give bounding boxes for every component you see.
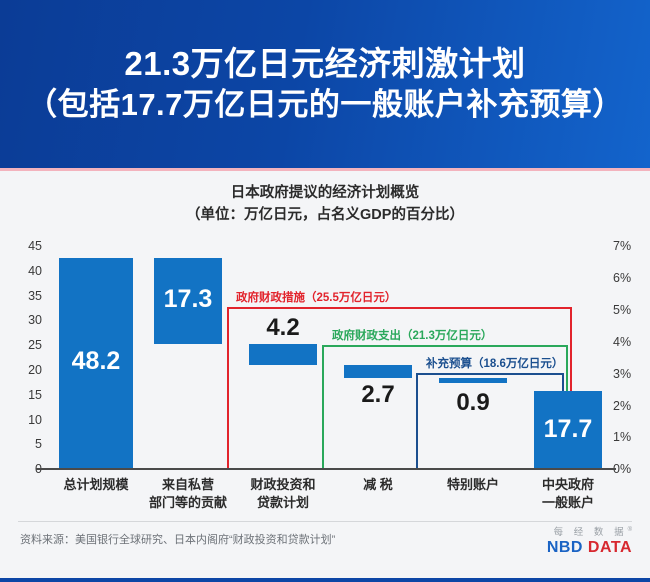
x-label-tax-cut-line1: 减 税 [333,476,423,494]
chart-title-line1: 日本政府提议的经济计划概览 [0,182,650,204]
annotation-label-fiscal-measures: 政府财政措施（25.5万亿日元） [233,293,399,305]
x-label-fiscal-investment-loan-line1: 财政投资和 [238,476,328,494]
logo-chinese-text: 每 经 数 据 [554,527,628,538]
bar-value-special-account: 0.9 [435,391,511,415]
x-label-central-gov-general-account-line1: 中央政府 [523,476,613,494]
x-label-special-account: 特别账户 [428,476,518,494]
source-note: 资料来源：美国银行全球研究、日本内阁府“财政投资和贷款计划” [20,531,335,547]
footer-divider [18,521,632,522]
x-label-total-plan-size: 总计划规模 [51,476,141,494]
y-tick-left-10: 10 [28,414,42,427]
y-axis-right: 7% 6% 5% 4% 3% 2% 1% 0% [613,245,647,469]
y-tick-right-2: 2% [613,400,631,413]
x-label-total-plan-size-line1: 总计划规模 [51,476,141,494]
x-label-special-account-line1: 特别账户 [428,476,518,494]
x-label-private-sector-contribution-line1: 来自私营 [143,476,233,494]
y-tick-left-25: 25 [28,339,42,352]
bar-value-central-gov-general-account: 17.7 [534,417,602,442]
y-tick-right-5: 5% [613,304,631,317]
banner-title-line2: （包括17.7万亿日元的一般账户补充预算） [26,87,624,124]
y-tick-left-20: 20 [28,364,42,377]
x-label-central-gov-general-account: 中央政府 一般账户 [523,476,613,511]
logo-english-name: NBD DATA [547,539,632,557]
header-divider [0,168,650,171]
y-tick-right-3: 3% [613,368,631,381]
annotation-label-supplementary-budget: 补充预算（18.6万亿日元） [423,359,566,371]
x-label-fiscal-investment-loan: 财政投资和 贷款计划 [238,476,328,511]
x-label-fiscal-investment-loan-line2: 贷款计划 [238,494,328,512]
y-tick-left-40: 40 [28,265,42,278]
banner-title-line1: 21.3万亿日元经济刺激计划 [124,45,525,84]
chart-title-line2: （单位：万亿日元，占名义GDP的百分比） [0,204,650,226]
chart-title: 日本政府提议的经济计划概览 （单位：万亿日元，占名义GDP的百分比） [0,182,650,227]
bar-tax-cut [344,365,412,378]
y-tick-left-45: 45 [28,240,42,253]
y-tick-left-15: 15 [28,389,42,402]
bar-value-tax-cut: 2.7 [340,383,416,407]
x-label-central-gov-general-account-line2: 一般账户 [523,494,613,512]
x-label-tax-cut: 减 税 [333,476,423,494]
bar-special-account [439,378,507,383]
logo-data-text: DATA [583,539,632,556]
x-axis-baseline [36,468,616,470]
x-label-private-sector-contribution-line2: 部门等的贡献 [143,494,233,512]
y-tick-left-5: 5 [35,438,42,451]
y-tick-right-4: 4% [613,336,631,349]
y-tick-right-1: 1% [613,431,631,444]
y-tick-right-7: 7% [613,240,631,253]
y-axis-left: 45 40 35 30 25 20 15 10 5 0 [10,245,42,469]
bar-value-fiscal-investment-loan: 4.2 [245,316,321,340]
y-tick-left-30: 30 [28,314,42,327]
registered-trademark-icon: ® [628,527,632,533]
y-tick-left-35: 35 [28,290,42,303]
y-tick-right-6: 6% [613,272,631,285]
bar-value-total-plan-size: 48.2 [59,349,133,374]
annotation-label-fiscal-spending: 政府财政支出（21.3万亿日元） [329,331,495,343]
banner-header: 21.3万亿日元经济刺激计划 （包括17.7万亿日元的一般账户补充预算） [0,0,650,168]
bottom-stripe [0,578,650,582]
x-label-private-sector-contribution: 来自私营 部门等的贡献 [143,476,233,511]
chart-plot-area: 政府财政措施（25.5万亿日元） 政府财政支出（21.3万亿日元） 补充预算（1… [45,245,608,469]
bar-fiscal-investment-loan [249,344,317,365]
x-axis-labels: 总计划规模 来自私营 部门等的贡献 财政投资和 贷款计划 减 税 特别账户 中央… [45,476,608,520]
logo-chinese-name: 每 经 数 据® [547,527,632,539]
logo-nbd-text: NBD [547,539,583,556]
bar-value-private-sector-contribution: 17.3 [154,287,222,312]
nbd-data-logo: 每 经 数 据® NBD DATA [547,527,632,557]
